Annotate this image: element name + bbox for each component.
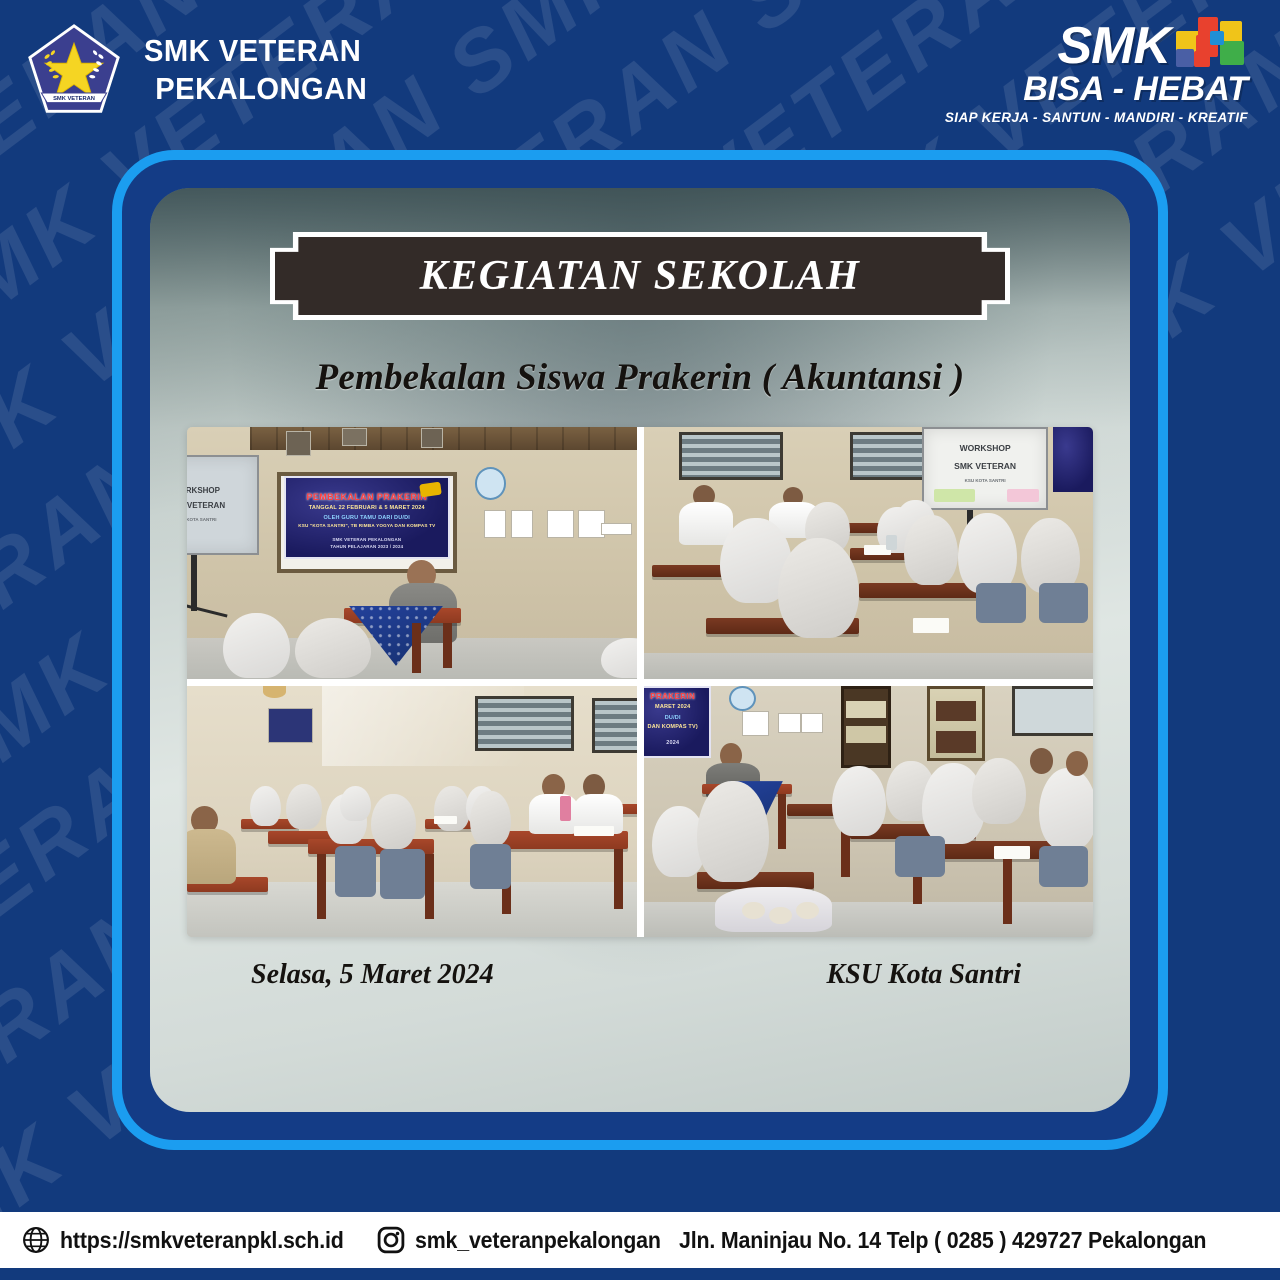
address-text: Jln. Maninjau No. 14 Telp ( 0285 ) 42972…: [679, 1227, 1206, 1254]
photo1-banner: PEMBEKALAN PRAKERIN TANGGAL 22 FEBRUARI …: [284, 476, 450, 559]
poster-root: SMK VETERAN SMK VETERAN SMK VETERAN SMK …: [0, 0, 1280, 1280]
smk-bisa-hebat-logo: SMK BISA - HEBAT SIAP KERJA - SANTUN - M…: [945, 15, 1254, 125]
school-name-line2: PEKALONGAN: [144, 70, 367, 108]
brand-bisa-hebat-text: BISA - HEBAT: [1023, 72, 1248, 106]
caption-date: Selasa, 5 Maret 2024: [187, 959, 494, 991]
photo1-banner-title: PEMBEKALAN PRAKERIN: [295, 492, 438, 502]
photo-collage: PEMBEKALAN PRAKERIN TANGGAL 22 FEBRUARI …: [187, 427, 1093, 937]
photo1-projector-screen: WORKSHOP SMK VETERAN KSU KOTA SANTRI: [187, 455, 259, 556]
instagram-icon: [377, 1226, 405, 1254]
photo1-banner-line5: TAHUN PELAJARAN 2023 / 2024: [295, 544, 438, 549]
footer-instagram[interactable]: smk_veteranpekalongan: [377, 1226, 679, 1254]
title-ribbon: KEGIATAN SEKOLAH: [270, 232, 1010, 320]
colored-squares-icon: [1176, 15, 1248, 71]
brand-tagline: SIAP KERJA - SANTUN - MANDIRI - KREATIF: [945, 110, 1248, 125]
footer-address: Jln. Maninjau No. 14 Telp ( 0285 ) 42972…: [679, 1227, 1258, 1254]
ribbon-outline: KEGIATAN SEKOLAH: [270, 232, 1010, 320]
photo-classroom-presenter: PEMBEKALAN PRAKERIN TANGGAL 22 FEBRUARI …: [187, 427, 637, 679]
photo-students-back-view: PRAKERIN MARET 2024 DU/DI DAN KOMPAS TV)…: [644, 686, 1094, 938]
brand-top-row: SMK: [1057, 15, 1248, 71]
photo1-screen-line1: WORKSHOP: [187, 486, 257, 495]
footer-bar: https://smkveteranpkl.sch.id smk_veteran…: [0, 1212, 1280, 1268]
photo4-banner-title: PRAKERIN: [644, 692, 705, 701]
photo-students-seated-rows: [187, 686, 637, 938]
instagram-handle: smk_veteranpekalongan: [415, 1227, 661, 1254]
caption-place: KSU Kota Santri: [826, 959, 1093, 991]
globe-icon: [22, 1226, 50, 1254]
school-name-line1: SMK VETERAN: [144, 33, 361, 68]
footer-website[interactable]: https://smkveteranpkl.sch.id: [22, 1226, 365, 1254]
photo1-banner-line2: OLEH GURU TAMU DARI DU/DI: [295, 515, 438, 521]
photo2-screen-line2: SMK VETERAN: [924, 461, 1046, 471]
content-card: KEGIATAN SEKOLAH Pembekalan Siswa Praker…: [150, 188, 1130, 1112]
photo2-screen-line3: KSU KOTA SANTRI: [924, 478, 1046, 483]
brand-smk-text: SMK: [1057, 23, 1170, 71]
photo4-banner-line1: MARET 2024: [644, 704, 705, 710]
photo1-banner-line3: KSU "KOTA SANTRI", TB RIMBA YOGYA DAN KO…: [295, 523, 438, 528]
photo-captions: Selasa, 5 Maret 2024 KSU Kota Santri: [187, 959, 1093, 991]
svg-text:SMK VETERAN: SMK VETERAN: [53, 96, 95, 102]
website-url: https://smkveteranpkl.sch.id: [60, 1227, 344, 1254]
school-name: SMK VETERAN PEKALONGAN: [144, 32, 367, 108]
photo1-banner-line1: TANGGAL 22 FEBRUARI & 5 MARET 2024: [295, 505, 438, 511]
content-frame: KEGIATAN SEKOLAH Pembekalan Siswa Praker…: [112, 150, 1168, 1150]
photo2-screen-line1: WORKSHOP: [924, 443, 1046, 453]
photo1-screen-line3: KSU KOTA SANTRI: [187, 517, 257, 522]
photo1-banner-line4: SMK VETERAN PEKALONGAN: [295, 537, 438, 542]
ribbon-title-text: KEGIATAN SEKOLAH: [275, 237, 1005, 315]
photo4-banner-line4: 2024: [644, 740, 705, 746]
poster-header: SMK VETERAN SMK VETERAN PEKALONGAN SMK: [0, 0, 1280, 140]
activity-subtitle: Pembekalan Siswa Prakerin ( Akuntansi ): [316, 356, 965, 399]
photo-students-watching-screen: WORKSHOP SMK VETERAN KSU KOTA SANTRI: [644, 427, 1094, 679]
photo1-screen-line2: SMK VETERAN: [187, 501, 257, 510]
photo4-banner-line3: DAN KOMPAS TV): [644, 724, 705, 730]
photo4-banner: PRAKERIN MARET 2024 DU/DI DAN KOMPAS TV)…: [644, 686, 711, 759]
photo2-projector-screen: WORKSHOP SMK VETERAN KSU KOTA SANTRI: [922, 427, 1048, 510]
photo4-banner-line2: DU/DI: [644, 715, 705, 721]
school-crest-icon: SMK VETERAN: [26, 22, 122, 118]
poster-footer: https://smkveteranpkl.sch.id smk_veteran…: [0, 1200, 1280, 1280]
